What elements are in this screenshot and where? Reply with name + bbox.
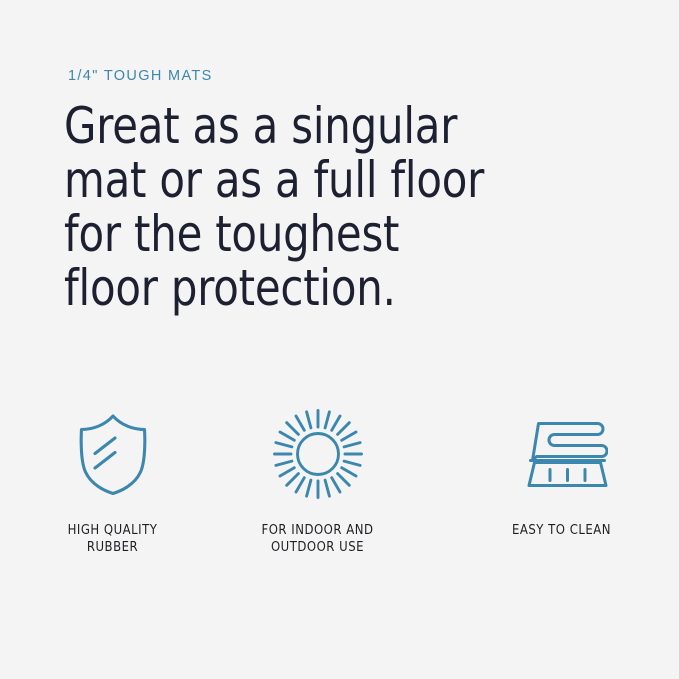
promo-banner: 1/4" TOUGH MATS Great as a singular mat … [0, 0, 679, 679]
feature-caption-line-2: OUTDOOR USE [262, 539, 374, 556]
headline-line-4: floor protection. [64, 261, 548, 315]
headline-line-2: mat or as a full floor [64, 153, 548, 207]
feature-caption-line-2: RUBBER [68, 539, 158, 556]
feature-item-easy-to-clean: EASY TO CLEAN [459, 404, 664, 539]
shield-icon [75, 404, 151, 504]
feature-caption-line-1: FOR INDOOR AND [262, 522, 374, 539]
feature-caption-line-1: HIGH QUALITY [68, 522, 158, 539]
page-title: Great as a singular mat or as a full flo… [64, 99, 584, 315]
scrub-brush-icon [516, 404, 608, 504]
feature-caption-line-1: EASY TO CLEAN [512, 522, 611, 539]
feature-list: HIGH QUALITY RUBBER [0, 404, 679, 556]
headline-line-1: Great as a singular [64, 99, 548, 153]
sun-icon [272, 404, 364, 504]
feature-item-indoor-outdoor-use: FOR INDOOR AND OUTDOOR USE [215, 404, 420, 556]
feature-item-high-quality-rubber: HIGH QUALITY RUBBER [10, 404, 215, 556]
feature-caption: EASY TO CLEAN [512, 522, 611, 539]
feature-caption: FOR INDOOR AND OUTDOOR USE [262, 522, 374, 556]
headline-line-3: for the toughest [64, 207, 548, 261]
feature-caption: HIGH QUALITY RUBBER [68, 522, 158, 556]
eyebrow-label: 1/4" TOUGH MATS [68, 68, 213, 84]
